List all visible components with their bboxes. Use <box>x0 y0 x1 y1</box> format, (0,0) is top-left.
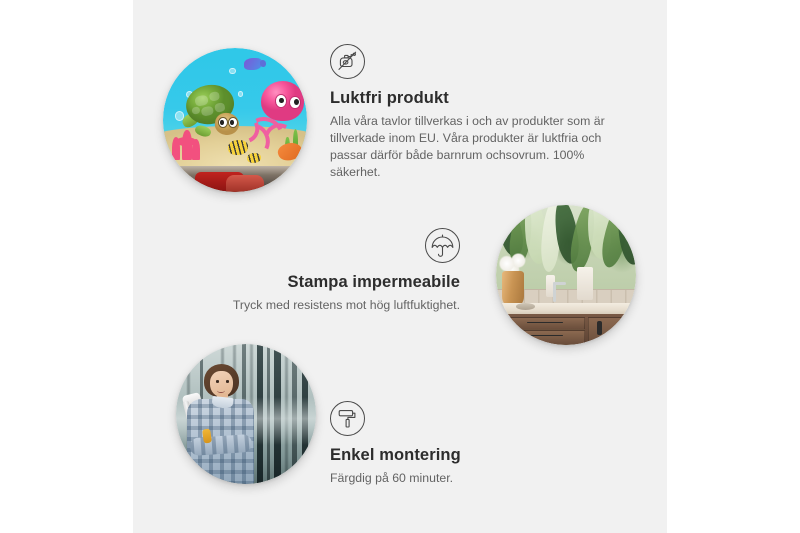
cabinet-door <box>588 317 636 345</box>
soap-dish <box>516 303 536 310</box>
woman-illustration <box>176 344 316 484</box>
cabinet-drawer <box>510 317 585 331</box>
coral <box>176 137 196 146</box>
woman-smile <box>217 387 225 392</box>
feature-title: Luktfri produkt <box>330 88 630 109</box>
no-fragrance-icon <box>330 44 365 79</box>
bubble-icon <box>238 91 243 96</box>
bubble-icon <box>229 68 235 74</box>
cabinet-handle <box>527 335 563 336</box>
umbrella-icon <box>425 228 460 263</box>
turtle-pupil <box>220 120 224 125</box>
underwater-illustration <box>163 48 307 192</box>
cabinet-handle <box>527 322 563 323</box>
paint-roller-icon <box>330 401 365 436</box>
woman-eye <box>216 380 219 382</box>
feature-title: Enkel montering <box>330 445 590 466</box>
woman-eye <box>226 380 229 382</box>
wood-cabinet <box>504 314 636 345</box>
screenshot-root: Luktfri produkt Alla våra tavlor tillver… <box>0 0 800 533</box>
bathroom-illustration <box>496 205 636 345</box>
no-fragrance-icon-wrapper <box>330 44 630 79</box>
feature-title: Stampa impermeabile <box>198 272 460 293</box>
blue-fish <box>244 58 263 70</box>
image-bathroom-vanity <box>496 205 636 345</box>
paint-roller-icon-wrapper <box>330 401 590 436</box>
octopus-pupil <box>294 99 299 105</box>
faucet <box>553 282 566 285</box>
gold-vase <box>502 271 524 307</box>
feature-description: Tryck med resistens mot hög luftfuktighe… <box>198 297 460 314</box>
cabinet-drawer <box>510 330 585 345</box>
bottle <box>577 267 592 301</box>
umbrella-icon-wrapper <box>198 228 460 263</box>
feature-description: Alla våra tavlor tillverkas i och av pro… <box>330 113 630 181</box>
cabinet-handle <box>597 321 603 335</box>
sofa-shape <box>226 175 263 192</box>
image-woman-with-roller <box>176 344 316 484</box>
feature-waterproof-print: Stampa impermeabile Tryck med resistens … <box>198 228 460 314</box>
roller-grip <box>202 429 212 444</box>
yellow-fish <box>228 140 248 154</box>
feature-easy-mounting: Enkel montering Färgdig på 60 minuter. <box>330 401 590 487</box>
image-underwater-scene <box>163 48 307 192</box>
feature-odour-free: Luktfri produkt Alla våra tavlor tillver… <box>330 44 630 181</box>
feature-description: Färgdig på 60 minuter. <box>330 470 590 487</box>
